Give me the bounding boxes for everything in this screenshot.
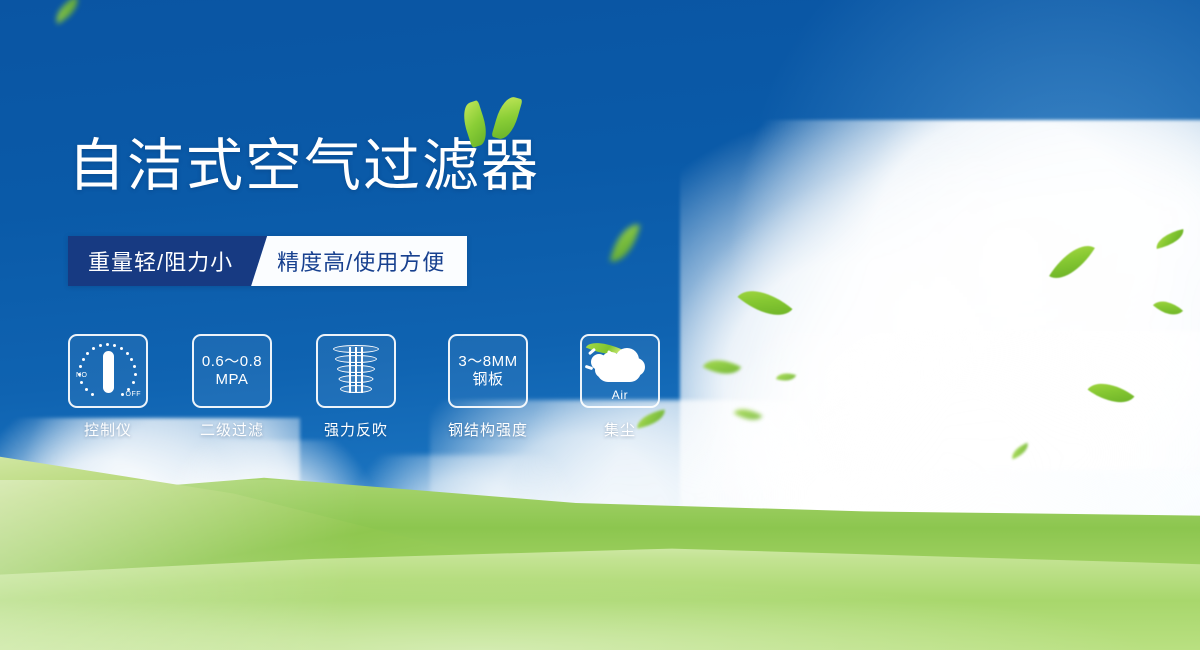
sprout-leaf-right [491,94,522,142]
subtitle-right-panel: 精度高/使用方便 [251,236,467,286]
pressure-value-line1: 0.6〜0.8 [202,353,262,371]
feature-label-steel-strength: 钢结构强度 [448,419,528,440]
air-label: Air [587,388,653,402]
product-hero-banner: 自洁式空气过滤器 重量轻/阻力小 精度高/使用方便 [0,0,1200,650]
sprout-leaves-icon [463,96,533,148]
pressure-text-icon: 0.6〜0.8 MPA [202,353,262,388]
feature-box-control-gauge: NO OFF [68,334,148,408]
gauge-icon: NO OFF [77,342,139,400]
feature-box-dust-collection: Air [580,334,660,408]
feature-box-secondary-filter: 0.6〜0.8 MPA [192,334,272,408]
feature-item-backblow[interactable]: 强力反吹 [316,334,396,440]
air-cloud-icon: Air [587,342,653,400]
feature-list: NO OFF 控制仪 0.6〜0.8 MPA 二级过滤 [68,334,660,440]
title-block: 自洁式空气过滤器 [68,138,540,195]
feature-box-backblow [316,334,396,408]
steel-value-line2: 钢板 [458,371,517,389]
feature-label-dust-collection: 集尘 [604,419,636,440]
subtitle-left-panel: 重量轻/阻力小 [68,236,267,286]
pressure-value-line2: MPA [202,371,262,389]
subtitle-bar: 重量轻/阻力小 精度高/使用方便 [68,236,467,286]
steel-value-line1: 3〜8MM [458,353,517,371]
coil-filter-icon [332,343,380,399]
feature-item-dust-collection[interactable]: Air 集尘 [580,334,660,440]
feature-item-control-gauge[interactable]: NO OFF 控制仪 [68,334,148,440]
feature-label-backblow: 强力反吹 [324,419,388,440]
gauge-label-off: OFF [126,391,142,398]
gauge-label-no: NO [76,372,88,379]
feature-item-secondary-filter[interactable]: 0.6〜0.8 MPA 二级过滤 [192,334,272,440]
feature-label-control-gauge: 控制仪 [84,419,132,440]
feature-label-secondary-filter: 二级过滤 [200,419,264,440]
steel-text-icon: 3〜8MM 钢板 [458,353,517,388]
gauge-needle [103,351,114,393]
feature-item-steel-strength[interactable]: 3〜8MM 钢板 钢结构强度 [440,334,536,440]
sprout-leaf-left [459,100,492,148]
feature-box-steel-strength: 3〜8MM 钢板 [448,334,528,408]
